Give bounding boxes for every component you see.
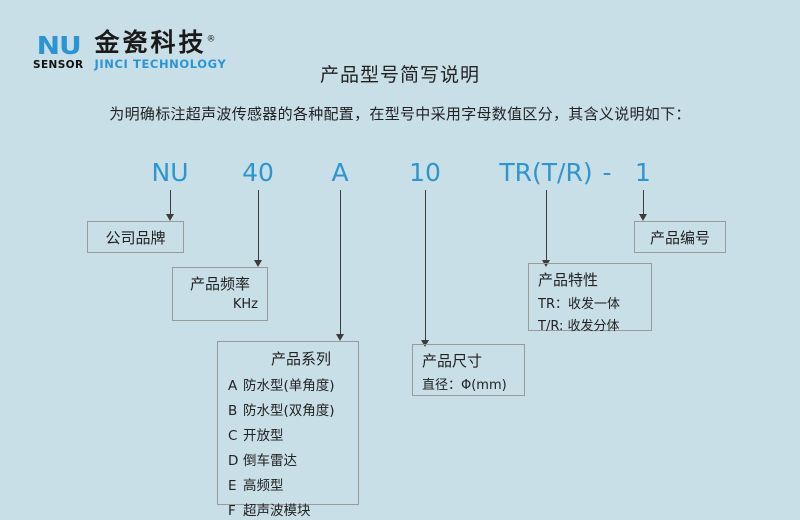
series-letter-c: C (228, 428, 243, 444)
callout-feature-line-2: T/R: 收发分体 (538, 315, 642, 334)
series-label-b: 防水型(双角度) (243, 403, 335, 419)
series-label-d: 倒车雷达 (243, 453, 297, 469)
series-item-e: E高频型 (228, 474, 348, 494)
code-segment-number: 1 (635, 158, 651, 187)
callout-box-brand: 公司品牌 (87, 221, 184, 253)
connector-line-frequency (258, 190, 259, 262)
connector-arrow-frequency (254, 260, 262, 267)
connector-line-feature (546, 190, 547, 262)
callout-size-title: 产品尺寸 (422, 350, 515, 371)
code-segment-series: A (331, 158, 348, 187)
connector-line-brand (170, 190, 171, 217)
callout-box-number: 产品编号 (634, 221, 726, 253)
series-item-f: F超声波模块 (228, 499, 348, 519)
connector-arrow-series (336, 334, 344, 341)
code-segment-size: 10 (409, 158, 441, 187)
code-segment-brand: NU (152, 158, 189, 187)
callout-box-feature: 产品特性 TR：收发一体 T/R: 收发分体 (528, 263, 652, 331)
series-letter-e: E (228, 478, 243, 494)
page-subtitle: 为明确标注超声波传感器的各种配置，在型号中采用字母数值区分，其含义说明如下： (0, 103, 800, 124)
callout-feature-title: 产品特性 (538, 269, 642, 290)
registered-trademark-icon: ® (207, 35, 219, 45)
series-letter-d: D (228, 453, 243, 469)
connector-line-series (340, 190, 341, 336)
callout-brand-title: 公司品牌 (97, 227, 174, 248)
series-label-c: 开放型 (243, 428, 284, 444)
diagram-canvas: NU SENSOR 金瓷科技® JINCI TECHNOLOGY 产品型号简写说… (0, 0, 800, 520)
connector-line-size (425, 190, 426, 342)
callout-series-title: 产品系列 (228, 348, 348, 369)
code-segment-frequency: 40 (242, 158, 274, 187)
callout-number-title: 产品编号 (644, 227, 716, 248)
series-letter-b: B (228, 403, 243, 419)
connector-arrow-brand (166, 214, 174, 221)
page-title: 产品型号简写说明 (0, 60, 800, 87)
series-letter-f: F (228, 503, 243, 519)
callout-frequency-title: 产品频率 (182, 273, 258, 294)
series-item-b: B防水型(双角度) (228, 399, 348, 419)
connector-line-number (643, 190, 644, 217)
callout-size-detail: 直径：Φ(mm) (422, 374, 515, 393)
callout-box-series: 产品系列 A防水型(单角度) B防水型(双角度) C开放型 D倒车雷达 E高频型… (217, 341, 359, 505)
callout-box-size: 产品尺寸 直径：Φ(mm) (412, 344, 525, 396)
series-label-f: 超声波模块 (243, 503, 311, 519)
code-segment-dash: - (602, 158, 611, 187)
series-label-a: 防水型(单角度) (243, 378, 335, 394)
callout-frequency-unit: KHz (182, 297, 258, 312)
callout-feature-line-1: TR：收发一体 (538, 293, 642, 312)
connector-arrow-number (639, 214, 647, 221)
code-segment-feature: TR(T/R) (499, 158, 592, 187)
logo-nu-text: NU (36, 33, 80, 58)
callout-box-frequency: 产品频率 KHz (172, 267, 268, 321)
series-item-c: C开放型 (228, 424, 348, 444)
series-item-a: A防水型(单角度) (228, 374, 348, 394)
logo-chinese-name: 金瓷科技® (95, 30, 227, 55)
series-letter-a: A (228, 378, 243, 394)
series-label-e: 高频型 (243, 478, 284, 494)
series-item-d: D倒车雷达 (228, 449, 348, 469)
logo-chinese-name-text: 金瓷科技 (95, 28, 207, 57)
